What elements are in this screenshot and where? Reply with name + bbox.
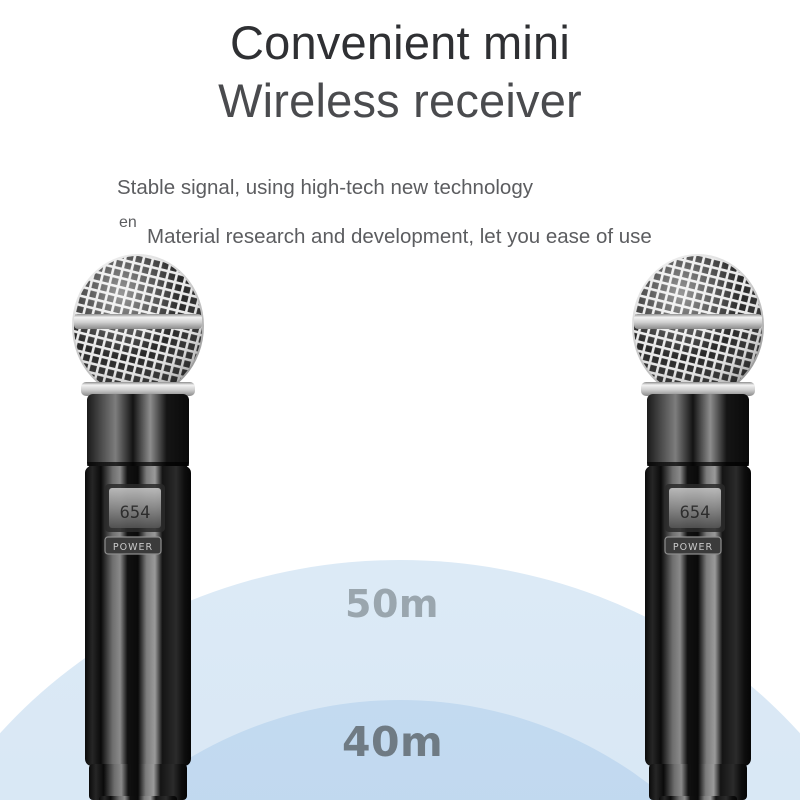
microphone-display-panel: 654	[105, 484, 165, 532]
microphone-display-value: 654	[120, 503, 151, 523]
microphone-upper-collar	[647, 394, 749, 468]
headline-block: Convenient mini Wireless receiver	[0, 0, 800, 130]
product-poster: 50m 40m	[0, 0, 800, 800]
grille-ring-band	[74, 314, 202, 329]
microphone-base-segment	[99, 796, 177, 800]
range-label-50m: 50m	[345, 582, 439, 626]
microphone-right: 654 POWER	[603, 248, 793, 800]
microphone-lower-segment	[89, 764, 187, 800]
microphone-power-button[interactable]: POWER	[665, 537, 721, 554]
microphone-left: 654 POWER	[43, 248, 233, 800]
microphone-grille	[628, 252, 768, 402]
grille-ring-band	[634, 314, 762, 329]
page-title: Convenient mini Wireless receiver	[0, 0, 800, 130]
microphone-base-segment	[659, 796, 737, 800]
microphone-display-panel: 654	[665, 484, 725, 532]
subtitle-line-2: Material research and development, let y…	[147, 225, 652, 249]
microphone-upper-collar	[87, 394, 189, 468]
microphone-display-value: 654	[680, 503, 711, 523]
microphone-power-label: POWER	[673, 542, 713, 553]
microphone-lower-segment	[649, 764, 747, 800]
range-label-40m: 40m	[342, 718, 443, 766]
subtitle-line-1: Stable signal, using high-tech new techn…	[117, 176, 533, 200]
microphone-power-button[interactable]: POWER	[105, 537, 161, 554]
headline-line-1: Convenient mini	[230, 16, 570, 69]
microphone-left-illustration: 654 POWER	[43, 248, 233, 800]
microphone-right-illustration: 654 POWER	[603, 248, 793, 800]
microphone-power-label: POWER	[113, 542, 153, 553]
microphone-grille	[68, 252, 208, 402]
headline-line-2: Wireless receiver	[0, 72, 800, 130]
subtitle-orphan-fragment: en	[119, 214, 137, 232]
